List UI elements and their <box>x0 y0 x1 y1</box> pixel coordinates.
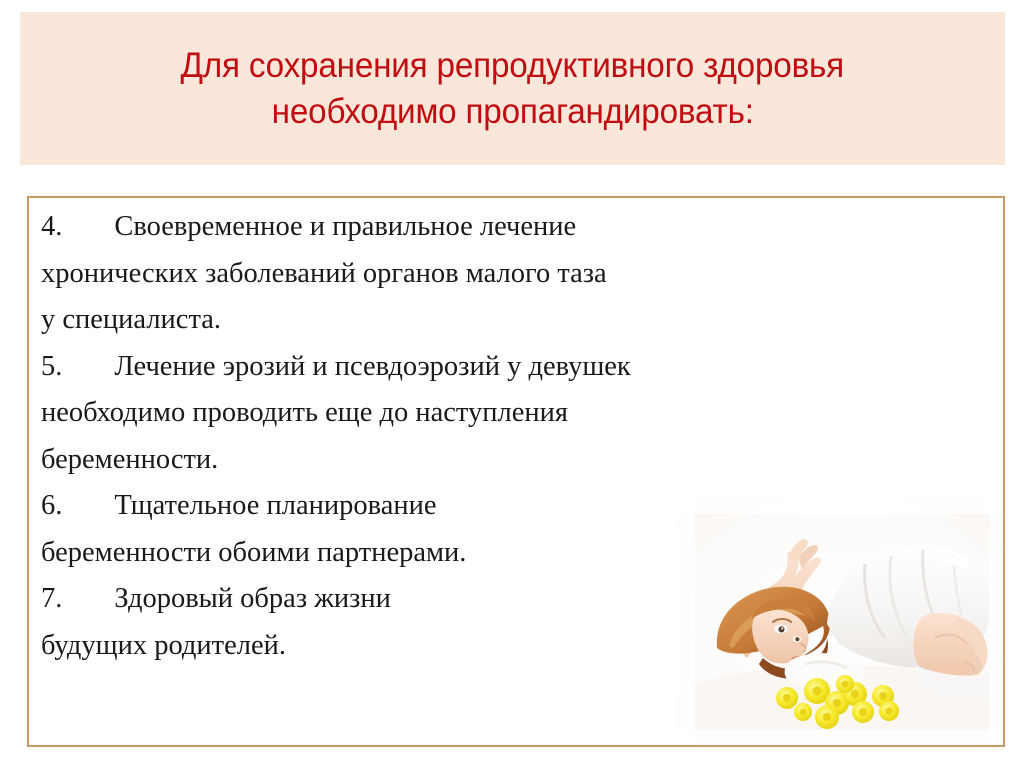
content-frame: 4.Своевременное и правильное лечение хро… <box>27 196 1005 747</box>
list-item-5-line-2: необходимо проводить еще до наступления <box>41 390 991 436</box>
content-body-text: 4.Своевременное и правильное лечение хро… <box>41 204 991 669</box>
list-item-4-line-3: у специалиста. <box>41 297 991 343</box>
list-item-4: 4.Своевременное и правильное лечение хро… <box>41 204 991 343</box>
page-title-line-1: Для сохранения репродуктивного здоровья <box>181 43 845 89</box>
page-title-line-2: необходимо пропагандировать: <box>271 89 753 135</box>
list-item-5-text-1: Лечение эрозий и псевдоэрозий у девушек <box>114 351 630 382</box>
list-item-7-line-1: 7.Здоровый образ жизни <box>41 576 991 622</box>
list-item-7: 7.Здоровый образ жизни будущих родителей… <box>41 576 991 668</box>
list-item-6: 6.Тщательное планирование беременности о… <box>41 483 991 575</box>
list-item-4-number: 4. <box>41 211 62 242</box>
slide-title-banner: Для сохранения репродуктивного здоровья … <box>20 12 1005 165</box>
list-item-4-line-2: хронических заболеваний органов малого т… <box>41 251 991 297</box>
list-item-4-line-1: 4.Своевременное и правильное лечение <box>41 204 991 250</box>
list-item-5: 5.Лечение эрозий и псевдоэрозий у девуше… <box>41 344 991 483</box>
list-item-4-text-1: Своевременное и правильное лечение <box>114 211 576 242</box>
list-item-5-line-1: 5.Лечение эрозий и псевдоэрозий у девуше… <box>41 344 991 390</box>
list-item-6-line-2: беременности обоими партнерами. <box>41 530 991 576</box>
list-item-5-number: 5. <box>41 351 62 382</box>
slide-canvas: Для сохранения репродуктивного здоровья … <box>0 0 1024 767</box>
list-item-6-number: 6. <box>41 490 62 521</box>
list-item-7-line-2: будущих родителей. <box>41 623 991 669</box>
list-item-5-line-3: беременности. <box>41 437 991 483</box>
list-item-6-line-1: 6.Тщательное планирование <box>41 483 991 529</box>
list-item-6-text-1: Тщательное планирование <box>114 490 436 521</box>
list-item-7-text-1: Здоровый образ жизни <box>114 583 391 614</box>
list-item-7-number: 7. <box>41 583 62 614</box>
